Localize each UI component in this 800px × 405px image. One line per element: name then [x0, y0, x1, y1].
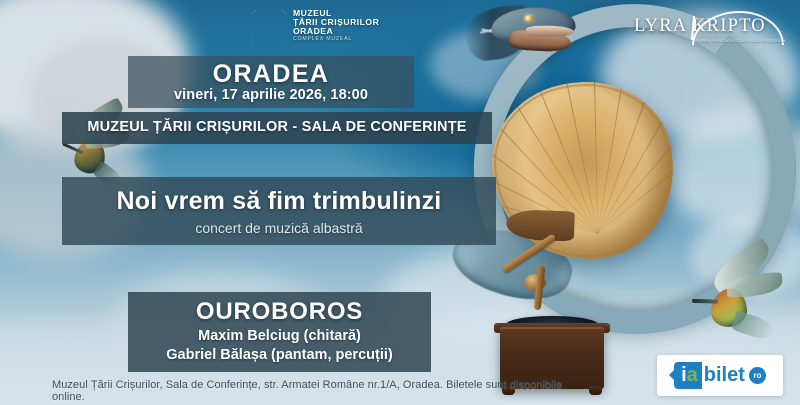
iabilet-tld: ro [749, 367, 766, 384]
serpent-mouth [526, 26, 574, 37]
iabilet-logo-inner: ia bilet ro [674, 362, 766, 389]
gramophone-neck [506, 209, 575, 241]
show-subtitle: concert de muzică albastră [62, 220, 496, 236]
museum-mark-m [256, 13, 282, 28]
show-title-band: Noi vrem să fim trimbulinzi concert de m… [62, 177, 496, 245]
museum-logo-text: MUZEUL ȚĂRII CRIȘURILOR ORADEA COMPLEX M… [293, 9, 379, 43]
sponsor-logo-lyra-kripto: LYRA KRIPTO Fonta Asociația Culturală Kr… [634, 14, 784, 48]
sponsor-word-lyra: LYRA [634, 16, 686, 36]
act-member: Maxim Belciug (chitară) [128, 328, 431, 344]
act-band: OUROBOROS Maxim Belciug (chitară) Gabrie… [128, 292, 431, 372]
event-poster: MUZEUL ȚĂRII CRIȘURILOR ORADEA COMPLEX M… [0, 0, 800, 405]
museum-m-wave-icon [252, 10, 286, 42]
footer-info: Muzeul Țării Crișurilor, Sala de Conferi… [52, 379, 572, 403]
sponsor-logo-subtitle: Fonta Asociația Culturală Kriptonita [696, 38, 786, 43]
museum-mark-wave [257, 30, 281, 32]
show-title: Noi vrem să fim trimbulinzi [62, 187, 496, 216]
event-date: vineri, 17 aprilie 2026, 18:00 [128, 87, 414, 103]
city-title: ORADEA [128, 60, 414, 89]
cabinet-foot [589, 386, 602, 395]
iabilet-word: bilet [702, 365, 748, 387]
hummingbird-icon [679, 247, 792, 353]
museum-mark-wave [257, 34, 281, 36]
museum-logo-line4: COMPLEX MUZEAL [293, 37, 379, 43]
date-band: ORADEA vineri, 17 aprilie 2026, 18:00 [128, 56, 414, 108]
act-name: OUROBOROS [128, 298, 431, 326]
act-member: Gabriel Bălașa (pantam, percuții) [128, 347, 431, 363]
museum-logo: MUZEUL ȚĂRII CRIȘURILOR ORADEA COMPLEX M… [252, 8, 384, 44]
hummingbird-tail [731, 310, 777, 342]
hummingbird-beak [692, 299, 718, 304]
serpent-head-icon [467, 0, 591, 70]
venue-band: MUZEUL ȚĂRII CRIȘURILOR - SALA DE CONFER… [62, 112, 492, 144]
gramophone-icon [477, 65, 690, 277]
iabilet-badge: ia [674, 362, 702, 389]
iabilet-prefix-accent: a [687, 364, 698, 386]
iabilet-ticket-icon[interactable]: ia bilet ro [657, 355, 783, 396]
venue-name: MUZEUL ȚĂRII CRIȘURILOR - SALA DE CONFER… [62, 119, 492, 135]
